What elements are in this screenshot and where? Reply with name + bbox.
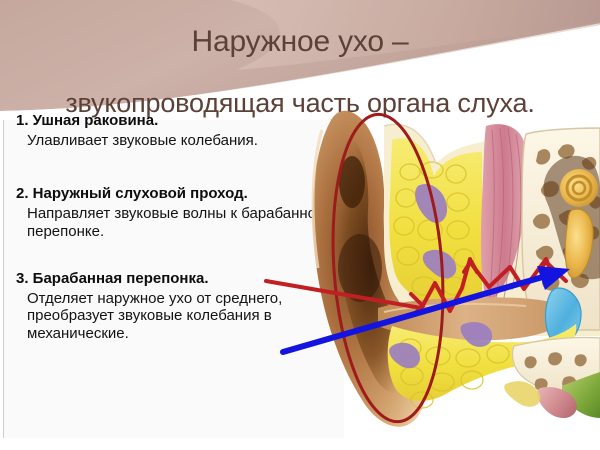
list-item-1-heading: 1. Ушная раковина. — [16, 112, 344, 131]
list-item-2: 2. Наружный слуховой проход. Направляет … — [14, 185, 344, 240]
list-item-1-body: Улавливает звуковые колебания. — [27, 132, 344, 150]
list-item-2-body: Направляет звуковые волны к барабанной п… — [27, 205, 344, 240]
list-item-3-body: Отделяет наружное ухо от среднего, преоб… — [27, 290, 344, 343]
list-item-3-heading: 3. Барабанная перепонка. — [16, 270, 344, 289]
list-item-1: 1. Ушная раковина. Улавливает звуковые к… — [14, 112, 344, 149]
ear-cross-section-diagram — [300, 100, 600, 430]
slide-root: Наружное ухо – звукопроводящая часть орг… — [0, 0, 600, 450]
list-item-3: 3. Барабанная перепонка. Отделяет наружн… — [14, 270, 344, 342]
list-item-2-heading: 2. Наружный слуховой проход. — [16, 185, 344, 204]
body-list: 1. Ушная раковина. Улавливает звуковые к… — [14, 112, 344, 357]
title-line-1: Наружное ухо – — [10, 26, 590, 58]
